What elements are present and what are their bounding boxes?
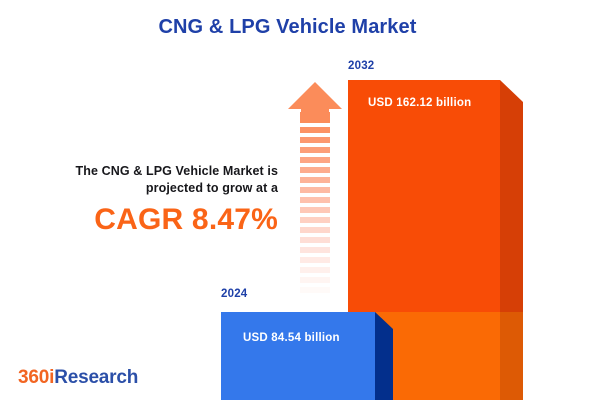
cagr-description: The CNG & LPG Vehicle Market is projecte…	[18, 163, 278, 197]
growth-arrow-icon	[288, 82, 342, 297]
brand-logo: 360iResearch	[18, 367, 138, 389]
bar-label-2032: 2032	[348, 60, 374, 72]
bar-2032-overlap-side	[500, 312, 523, 400]
bar-value-2032: USD 162.12 billion	[368, 97, 471, 109]
brand-logo-research: Research	[54, 367, 138, 388]
bar-label-2024: 2024	[221, 288, 247, 300]
bar-value-2024: USD 84.54 billion	[243, 332, 340, 344]
brand-logo-360i: 360i	[18, 367, 54, 388]
cagr-callout: The CNG & LPG Vehicle Market is projecte…	[18, 163, 278, 237]
cagr-value: CAGR 8.47%	[18, 203, 278, 237]
bar-2024: USD 84.54 billion	[221, 312, 393, 400]
bar-2024-front-face	[221, 312, 375, 400]
bar-2024-side-face	[375, 312, 393, 400]
page-title: CNG & LPG Vehicle Market	[0, 16, 575, 39]
infographic-canvas: CNG & LPG Vehicle Market 2032 USD 162.12…	[0, 0, 600, 400]
